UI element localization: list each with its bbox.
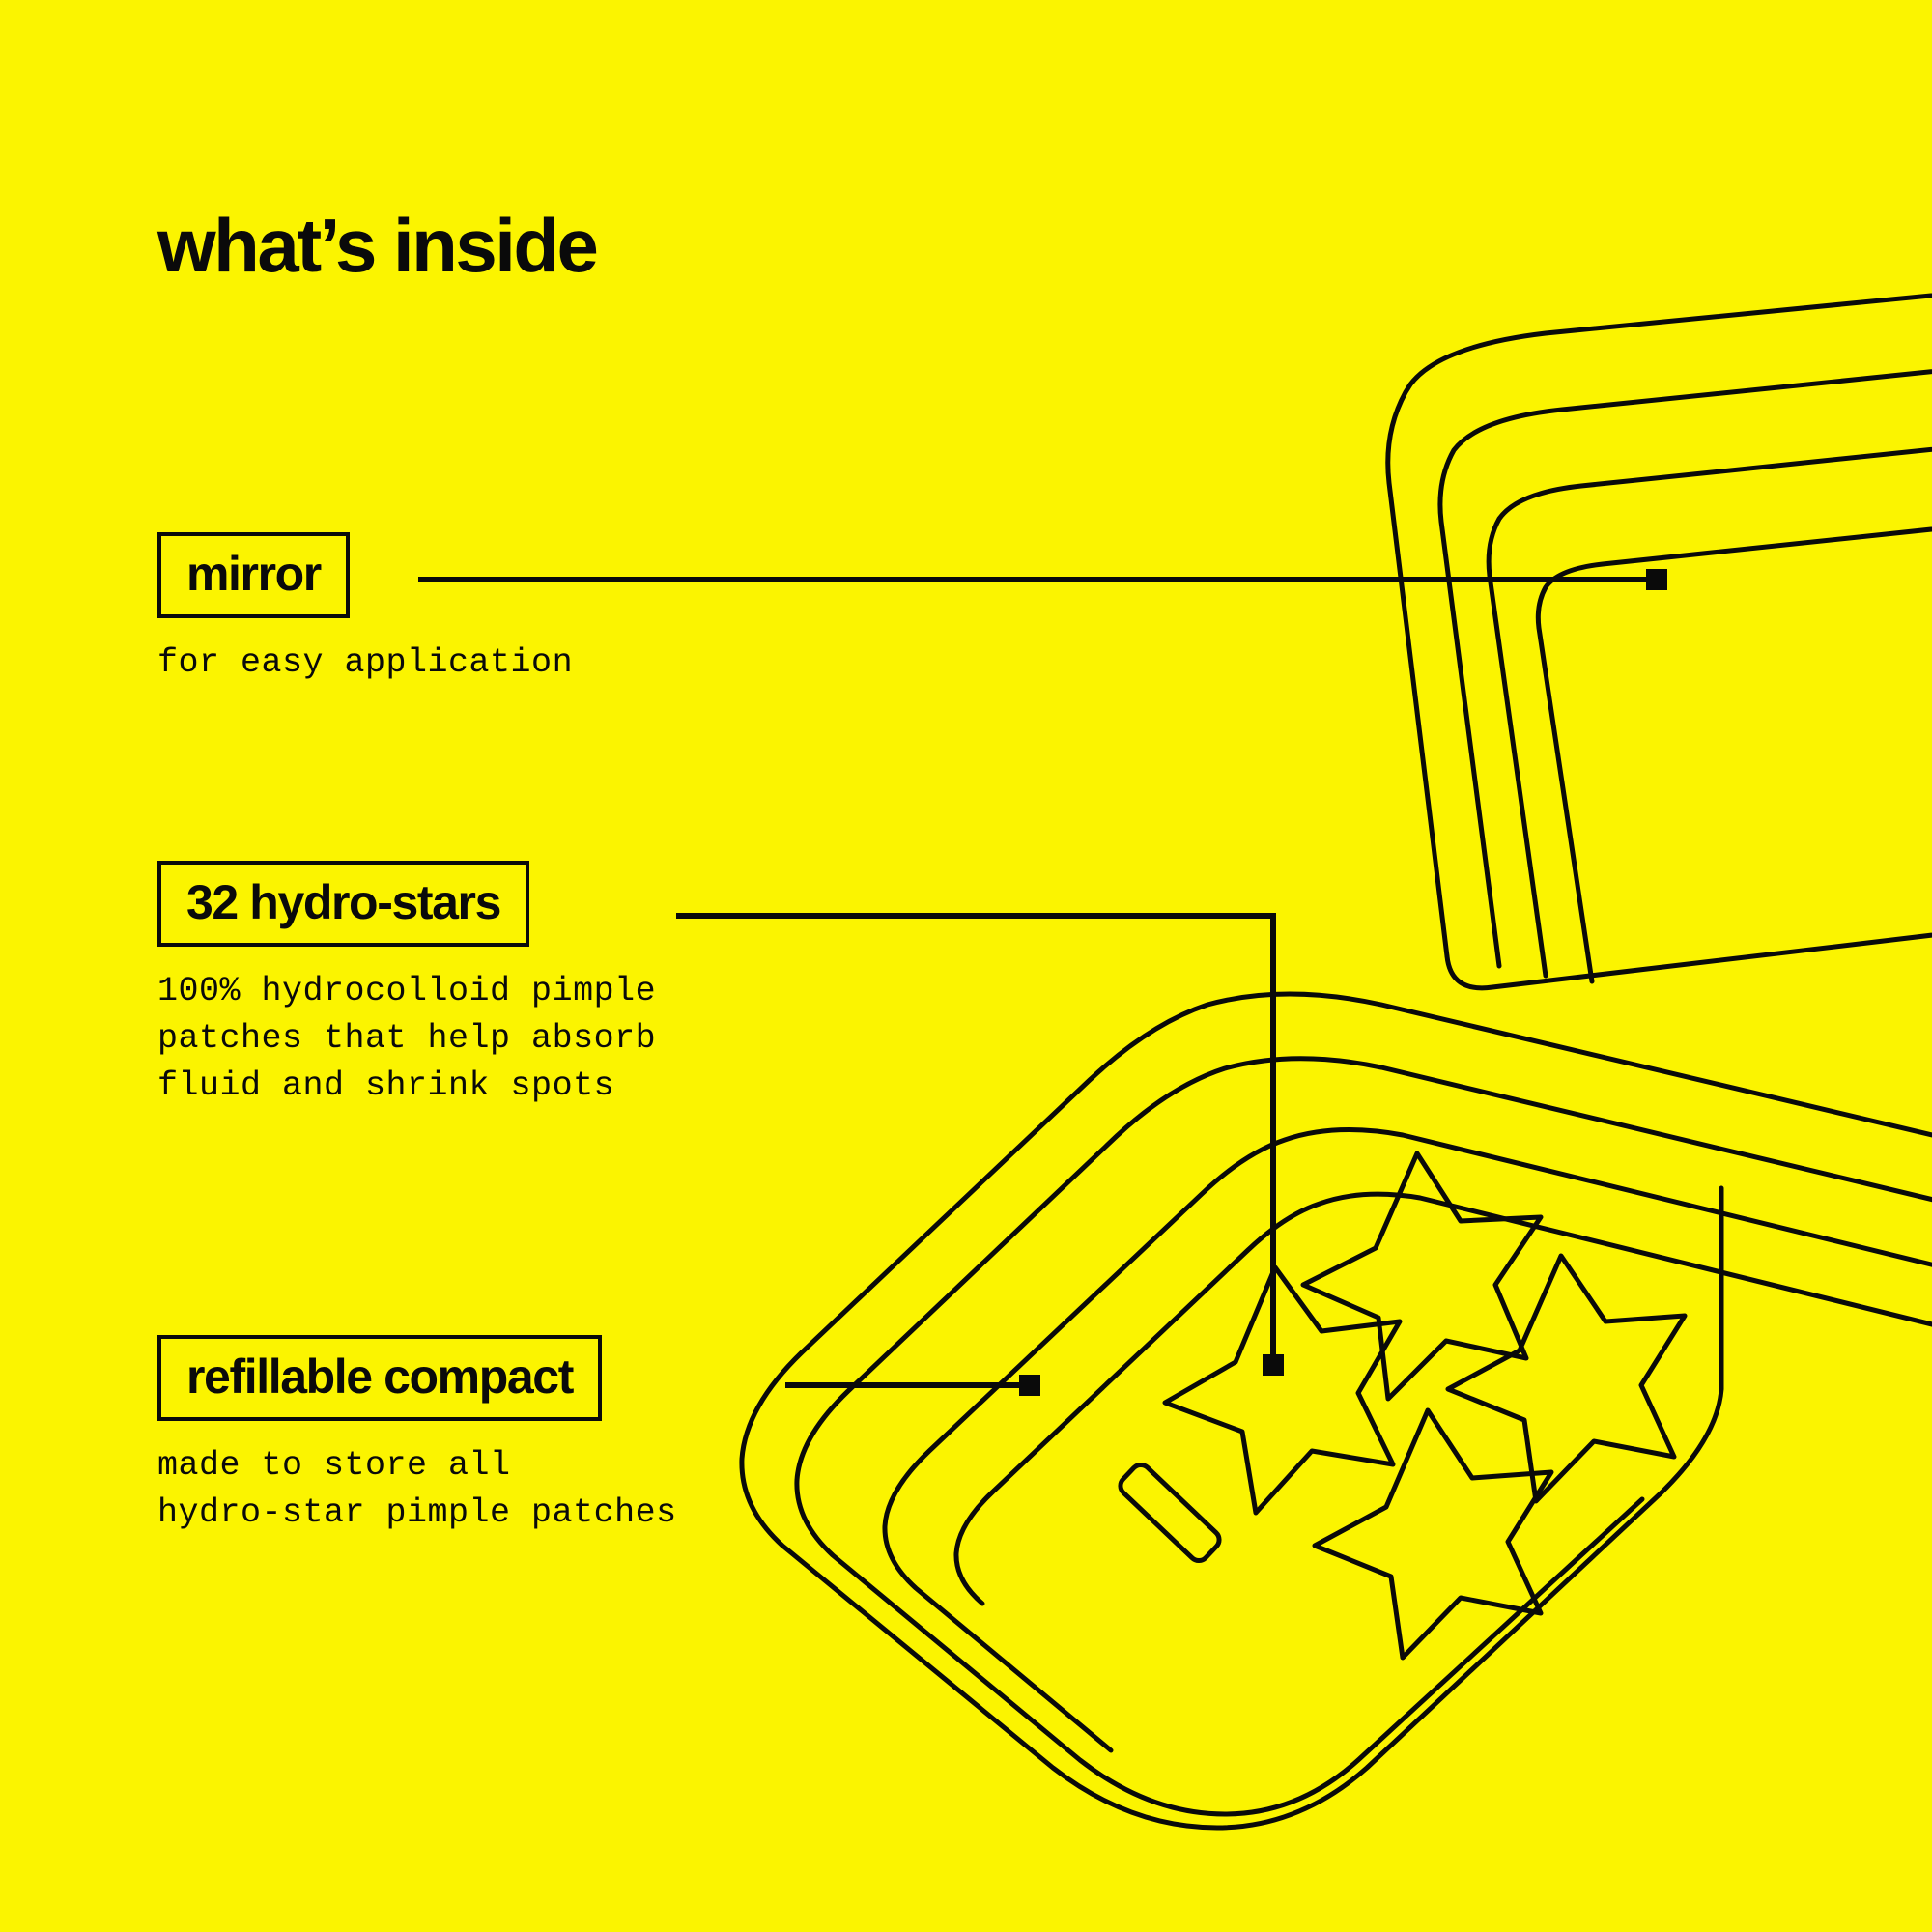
leader-dot-stars bbox=[1263, 1354, 1284, 1376]
page-title: what’s inside bbox=[157, 208, 596, 283]
leader-dot-compact bbox=[1019, 1375, 1040, 1396]
compact-lid-outer-edge bbox=[1388, 290, 1932, 956]
compact-inner-tray-floor bbox=[956, 1194, 1932, 1604]
hydro-star-patch bbox=[1315, 1410, 1551, 1658]
compact-lid-inner-rim bbox=[1489, 442, 1932, 976]
callout-description-refillable-compact: made to store all hydro-star pimple patc… bbox=[157, 1442, 677, 1537]
callout-box-hydro-stars[interactable]: 32 hydro-stars bbox=[157, 861, 529, 947]
leader-dot-mirror bbox=[1646, 569, 1667, 590]
callout-label-hydro-stars: 32 hydro-stars bbox=[186, 878, 500, 926]
callout-box-refillable-compact[interactable]: refillable compact bbox=[157, 1335, 602, 1421]
compact-inner-tray-rim bbox=[885, 1130, 1932, 1750]
callout-hydro-stars: 32 hydro-stars 100% hydrocolloid pimple … bbox=[157, 861, 656, 1110]
callout-refillable-compact: refillable compact made to store all hyd… bbox=[157, 1335, 677, 1537]
compact-lid-outer-top bbox=[1440, 365, 1932, 966]
compact-base-shell-thickness bbox=[797, 1059, 1932, 1814]
callout-label-mirror: mirror bbox=[186, 550, 321, 598]
compact-lid-hinge-edge bbox=[1447, 925, 1932, 988]
callout-description-hydro-stars: 100% hydrocolloid pimple patches that he… bbox=[157, 968, 656, 1110]
callout-mirror: mirror for easy application bbox=[157, 532, 573, 687]
hydro-star-patch bbox=[1303, 1153, 1541, 1399]
callout-description-mirror: for easy application bbox=[157, 639, 573, 687]
poster-canvas: what’s inside mirror for easy applicatio… bbox=[0, 0, 1932, 1932]
compact-base-shell bbox=[742, 994, 1932, 1828]
hydro-star-patch bbox=[1165, 1267, 1400, 1513]
callout-box-mirror[interactable]: mirror bbox=[157, 532, 350, 618]
callout-label-refillable-compact: refillable compact bbox=[186, 1352, 573, 1401]
compact-lid-mirror-pane bbox=[1538, 522, 1932, 981]
compact-latch-notch bbox=[1117, 1461, 1223, 1564]
hydro-star-patch bbox=[1448, 1256, 1685, 1501]
leader-line-stars bbox=[676, 916, 1273, 1365]
